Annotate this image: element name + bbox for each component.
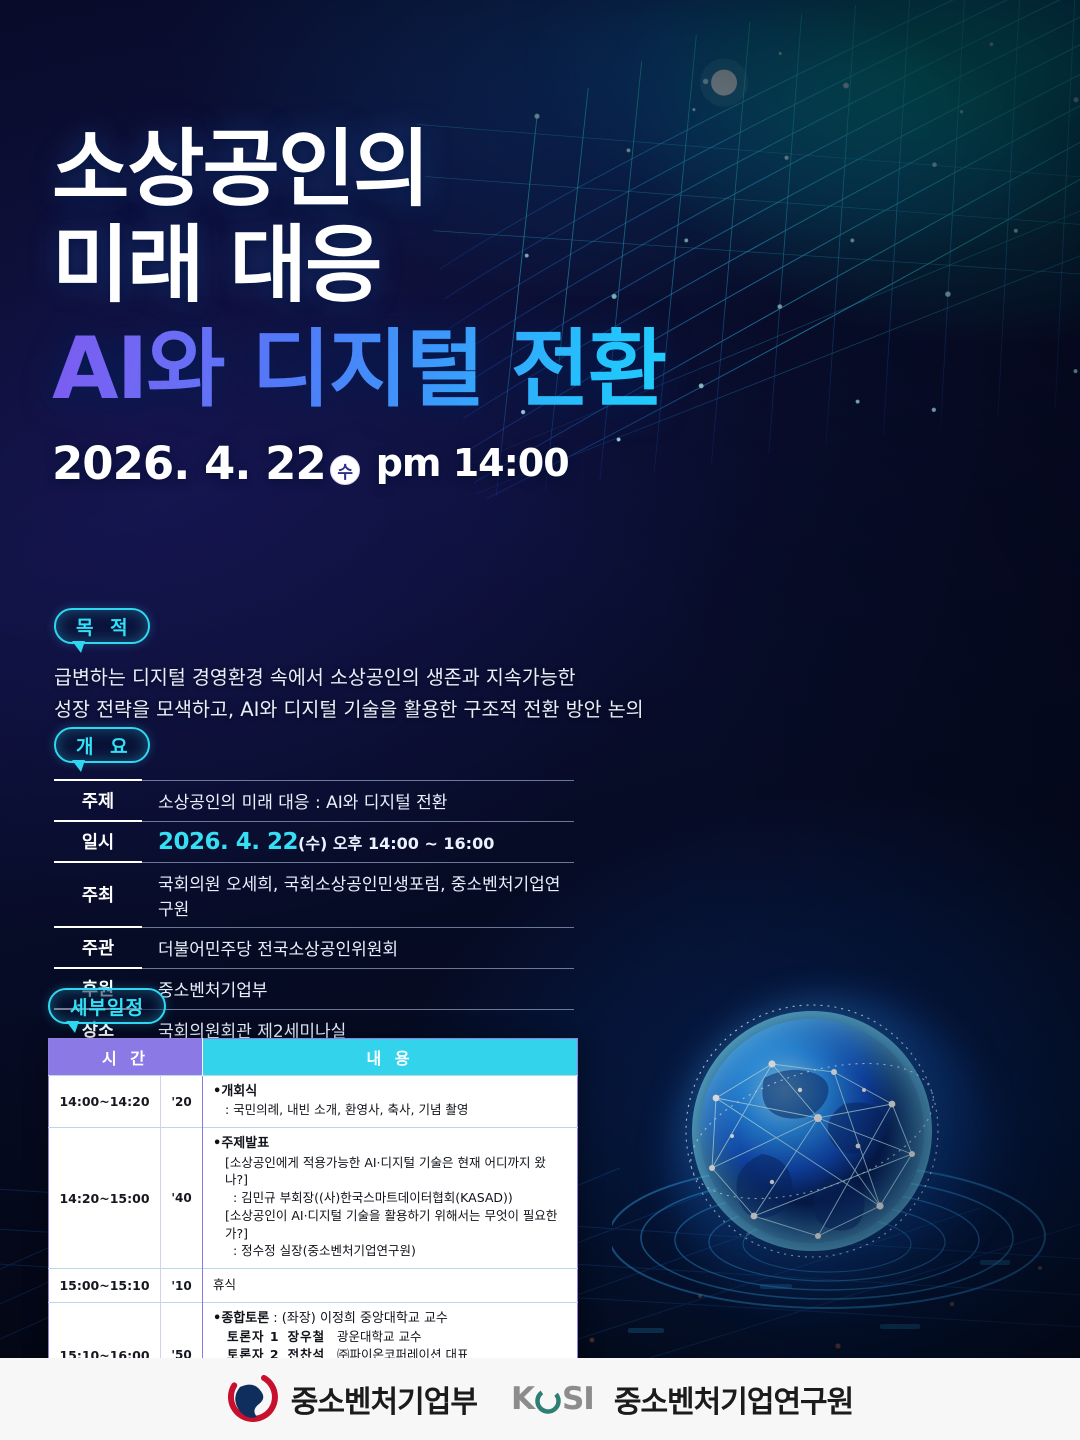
table-row: 일시 2026. 4. 22(수) 오후 14:00 ~ 16:00 xyxy=(54,821,574,862)
overview-key: 주관 xyxy=(54,927,142,968)
schedule-duration: '20 xyxy=(161,1076,203,1128)
schedule-label-pill: 세부일정 xyxy=(48,988,166,1024)
footer-logo-bar: 중소벤처기업부 K SI 중소벤처기업연구원 xyxy=(0,1358,1080,1440)
overview-value: 국회의원 오세희, 국회소상공인민생포럼, 중소벤처기업연구원 xyxy=(142,862,574,927)
logo-kosi: K SI 중소벤처기업연구원 xyxy=(511,1377,853,1421)
schedule-detail: [소상공인에게 적용가능한 AI·디지털 기술은 현재 어디까지 왔나?] xyxy=(213,1154,567,1190)
schedule-heading: 종합토론 : (좌장) 이정희 중앙대학교 교수 xyxy=(213,1310,567,1328)
table-row: 주제 소상공인의 미래 대응 : AI와 디지털 전환 xyxy=(54,780,574,821)
title-line-1: 소상공인의 xyxy=(52,128,812,210)
kosi-letter-k: K xyxy=(511,1381,534,1417)
title-line-2: 미래 대응 xyxy=(52,224,812,306)
taegeuk-icon xyxy=(227,1371,279,1427)
overview-value: 2026. 4. 22(수) 오후 14:00 ~ 16:00 xyxy=(142,821,574,862)
schedule-heading: 주제발표 xyxy=(213,1135,567,1153)
overview-value: 더불어민주당 전국소상공인위원회 xyxy=(142,927,574,968)
schedule-detail: [소상공인이 AI·디지털 기술을 활용하기 위해서는 무엇이 필요한가?] xyxy=(213,1207,567,1243)
discussant-label: 토론자 1 xyxy=(227,1329,280,1344)
overview-value: 소상공인의 미래 대응 : AI와 디지털 전환 xyxy=(142,780,574,821)
table-row: 15:00~15:10 '10 휴식 xyxy=(49,1269,578,1303)
schedule-time: 14:00~14:20 xyxy=(49,1076,161,1128)
schedule-content: 휴식 xyxy=(203,1269,578,1303)
overview-label-pill: 개 요 xyxy=(54,727,150,763)
schedule-label: 세부일정 xyxy=(70,993,144,1020)
weekday-chip: 수 xyxy=(330,455,360,485)
overview-label: 개 요 xyxy=(76,732,133,759)
schedule-heading-tail: : (좌장) 이정희 중앙대학교 교수 xyxy=(269,1311,448,1326)
schedule-detail: : 정수정 실장(중소벤처기업연구원) xyxy=(213,1242,567,1260)
discussant-org: 광운대학교 교수 xyxy=(333,1329,421,1344)
schedule-content: 주제발표 [소상공인에게 적용가능한 AI·디지털 기술은 현재 어디까지 왔나… xyxy=(203,1128,578,1269)
overview-key: 주제 xyxy=(54,780,142,821)
overview-key: 주최 xyxy=(54,862,142,927)
table-row: 14:00~14:20 '20 개회식 : 국민의례, 내빈 소개, 환영사, … xyxy=(49,1076,578,1128)
purpose-label-pill: 목 적 xyxy=(54,608,150,644)
kosi-name: 중소벤처기업연구원 xyxy=(614,1377,853,1421)
purpose-label: 목 적 xyxy=(76,613,133,640)
title-date: 2026. 4. 22 xyxy=(52,437,326,490)
table-row: 14:20~15:00 '40 주제발표 [소상공인에게 적용가능한 AI·디지… xyxy=(49,1128,578,1269)
ministry-name: 중소벤처기업부 xyxy=(291,1377,477,1421)
event-poster: 소상공인의 미래 대응 AI와 디지털 전환 2026. 4. 22 수 pm … xyxy=(0,0,1080,1440)
table-row: 주최 국회의원 오세희, 국회소상공인민생포럼, 중소벤처기업연구원 xyxy=(54,862,574,927)
purpose-section: 목 적 급변하는 디지털 경영환경 속에서 소상공인의 생존과 지속가능한 성장… xyxy=(54,608,644,725)
table-row: 주관 더불어민주당 전국소상공인위원회 xyxy=(54,927,574,968)
schedule-heading: 개회식 xyxy=(213,1083,567,1101)
schedule-header-row: 시 간 내 용 xyxy=(49,1039,578,1076)
poster-title-block: 소상공인의 미래 대응 AI와 디지털 전환 2026. 4. 22 수 pm … xyxy=(52,128,812,490)
overview-key: 일시 xyxy=(54,821,142,862)
schedule-header-time: 시 간 xyxy=(49,1039,203,1076)
overview-date-detail: (수) 오후 14:00 ~ 16:00 xyxy=(298,834,494,853)
logo-ministry: 중소벤처기업부 xyxy=(227,1371,477,1427)
schedule-time: 14:20~15:00 xyxy=(49,1128,161,1269)
purpose-line-1: 급변하는 디지털 경영환경 속에서 소상공인의 생존과 지속가능한 xyxy=(54,662,644,694)
purpose-body: 급변하는 디지털 경영환경 속에서 소상공인의 생존과 지속가능한 성장 전략을… xyxy=(54,662,644,725)
kosi-letter-si: SI xyxy=(562,1381,594,1417)
schedule-duration: '40 xyxy=(161,1128,203,1269)
title-line-3-accent: AI와 디지털 전환 xyxy=(52,327,812,411)
overview-date-highlight: 2026. 4. 22 xyxy=(158,829,298,855)
schedule-header-content: 내 용 xyxy=(203,1039,578,1076)
title-date-row: 2026. 4. 22 수 pm 14:00 xyxy=(52,437,812,490)
schedule-heading-text: 종합토론 xyxy=(221,1311,269,1326)
schedule-time: 15:00~15:10 xyxy=(49,1269,161,1303)
discussant-name: 장우철 xyxy=(288,1329,326,1344)
schedule-content: 개회식 : 국민의례, 내빈 소개, 환영사, 축사, 기념 촬영 xyxy=(203,1076,578,1128)
kosi-swirl-icon xyxy=(535,1386,561,1412)
schedule-duration: '10 xyxy=(161,1269,203,1303)
schedule-detail: : 김민규 부회장((사)한국스마트데이터협회(KASAD)) xyxy=(213,1189,567,1207)
discussant-row: 토론자 1장우철 광운대학교 교수 xyxy=(213,1328,567,1346)
schedule-detail: : 국민의례, 내빈 소개, 환영사, 축사, 기념 촬영 xyxy=(213,1101,567,1119)
kosi-mark: K SI xyxy=(511,1381,594,1417)
title-time: pm 14:00 xyxy=(376,441,569,485)
purpose-line-2: 성장 전략을 모색하고, AI와 디지털 기술을 활용한 구조적 전환 방안 논… xyxy=(54,694,644,726)
